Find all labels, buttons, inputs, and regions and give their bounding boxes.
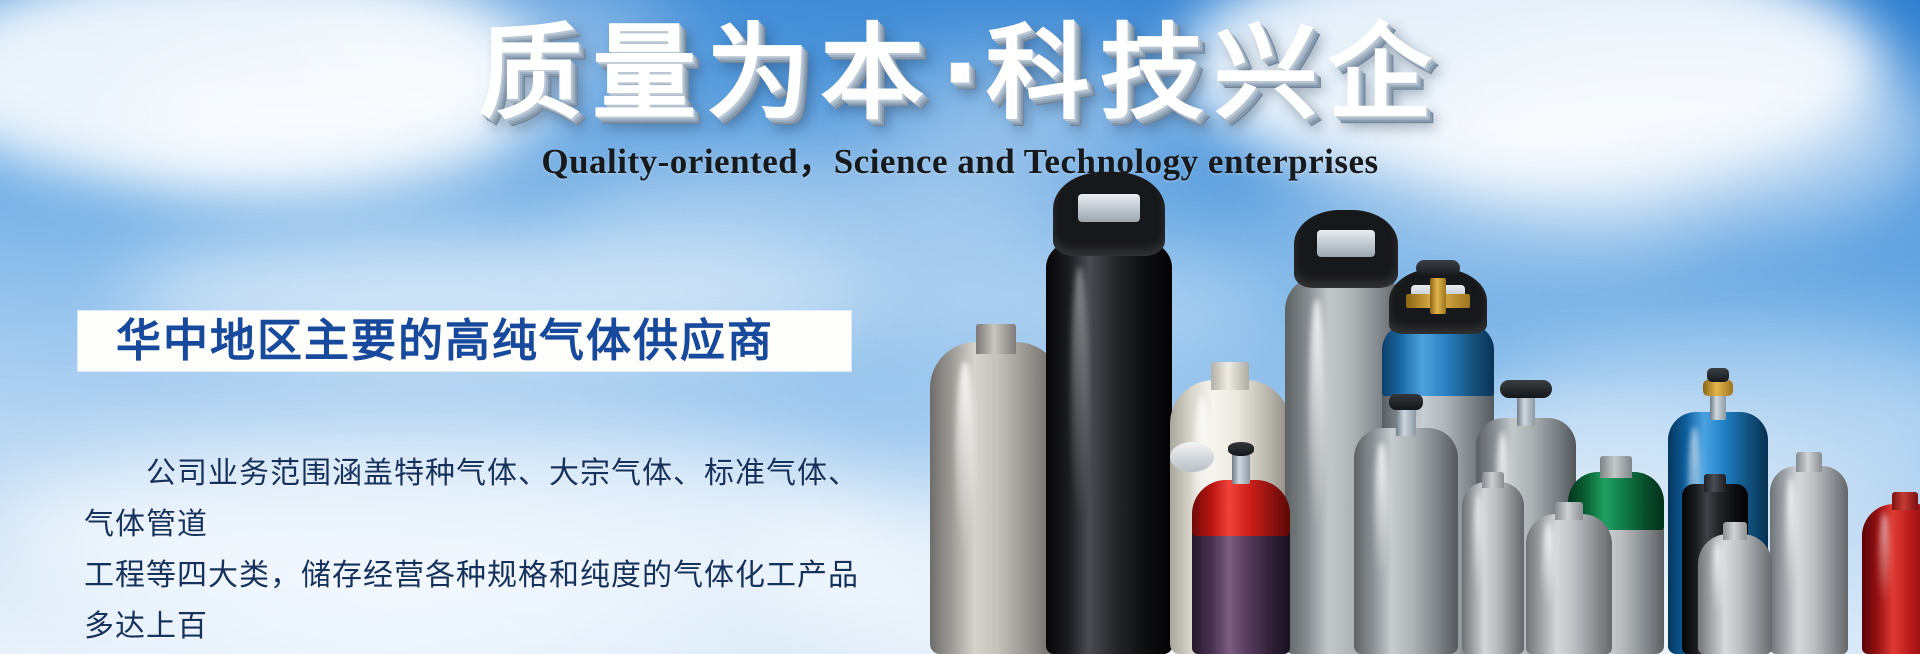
gas-cylinder-group <box>930 0 1920 654</box>
cylinder-aluminium-medium <box>1526 494 1612 654</box>
banner-body-copy: 公司业务范围涵盖特种气体、大宗气体、标准气体、气体管道 工程等四大类，储存经营各… <box>84 448 884 654</box>
cylinder-aluminium-small <box>1698 516 1772 654</box>
highlight-box-text: 华中地区主要的高纯气体供应商 <box>78 315 774 367</box>
cylinder-black-tall <box>1046 154 1172 654</box>
cylinder-grey-tall-left <box>930 314 1062 654</box>
cylinder-red-purple <box>1192 442 1290 654</box>
cylinder-grey-valve <box>1354 388 1458 654</box>
body-line: 公司业务范围涵盖特种气体、大宗气体、标准气体、气体管道 <box>84 448 884 550</box>
cylinder-aluminium-tall <box>1770 442 1848 654</box>
highlight-box: 华中地区主要的高纯气体供应商 <box>78 311 851 371</box>
cylinder-aluminium-slim <box>1462 462 1524 654</box>
cylinder-red-short <box>1862 484 1920 654</box>
body-line: 工程等四大类，储存经营各种规格和纯度的气体化工产品多达上百 <box>84 550 884 652</box>
hero-banner: 质量为本·科技兴企 Quality-oriented，Science and T… <box>0 0 1920 654</box>
cylinder-valve-handwheel <box>1170 442 1214 472</box>
headline-left: 质量为本 <box>478 12 934 134</box>
